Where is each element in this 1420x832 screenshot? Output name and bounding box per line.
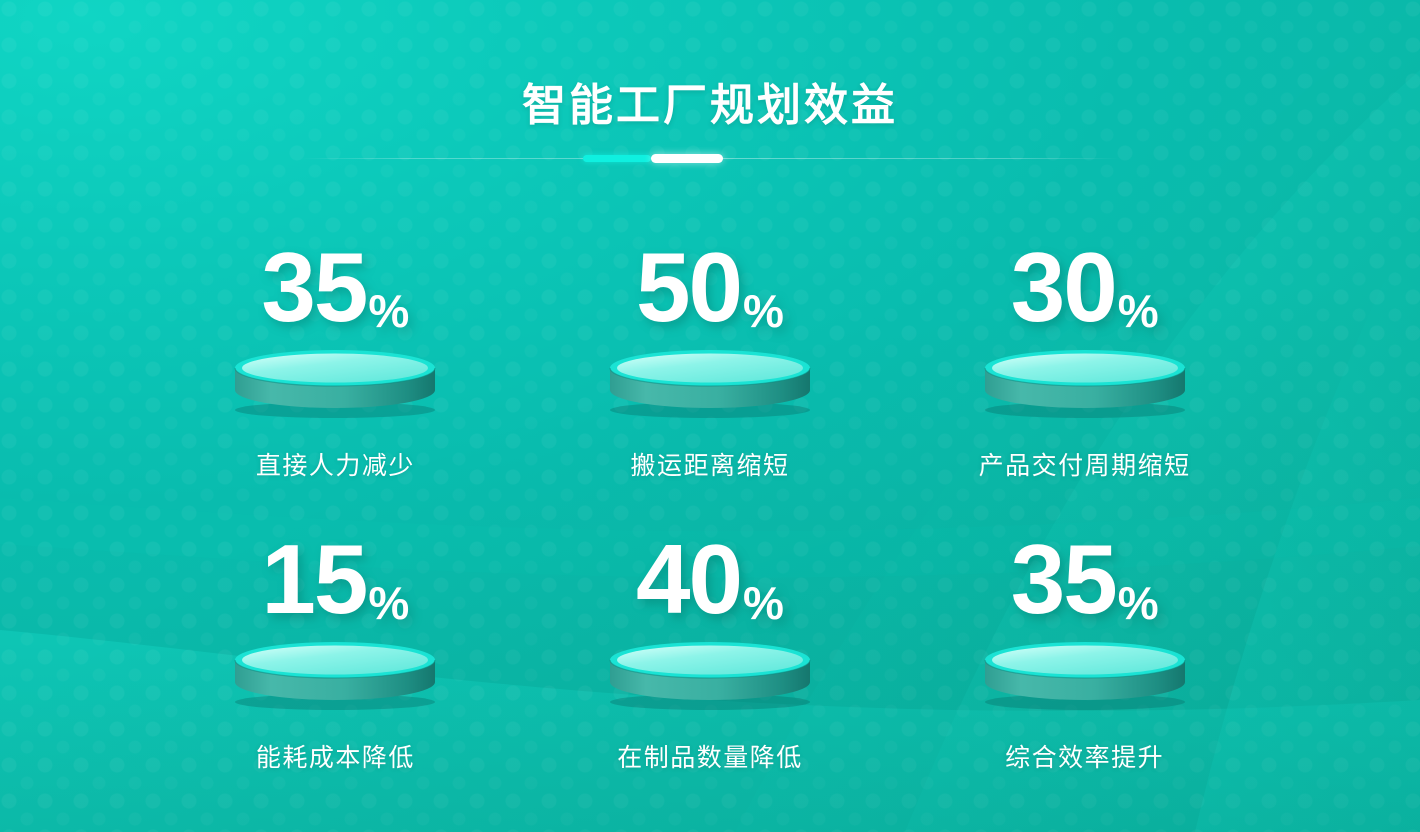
stat-label: 在制品数量降低 <box>617 738 803 774</box>
stat-number: 15 <box>261 530 366 628</box>
stat-label: 综合效率提升 <box>1005 738 1164 774</box>
podium-icon <box>231 638 439 710</box>
stat-value: 50 % <box>636 218 784 336</box>
stat-card: 15 % <box>148 510 523 790</box>
stat-card: 35 % <box>148 218 523 498</box>
stat-card: 50 % <box>523 218 898 498</box>
podium-icon <box>981 638 1189 710</box>
stats-grid: 35 % <box>148 218 1272 790</box>
header: 智能工厂规划效益 <box>0 0 1420 166</box>
stat-value: 35 % <box>261 218 409 336</box>
stat-value: 35 % <box>1011 510 1159 628</box>
stat-number: 40 <box>636 530 741 628</box>
stat-label: 产品交付周期缩短 <box>979 446 1191 482</box>
podium-icon <box>981 346 1189 418</box>
stat-number: 35 <box>261 238 366 336</box>
stat-unit: % <box>368 288 409 334</box>
stat-label: 直接人力减少 <box>256 446 415 482</box>
page-title: 智能工厂规划效益 <box>0 82 1420 130</box>
stat-card: 30 % <box>897 218 1272 498</box>
stat-number: 35 <box>1011 530 1116 628</box>
stat-number: 50 <box>636 238 741 336</box>
stat-card: 40 % <box>523 510 898 790</box>
stat-label: 能耗成本降低 <box>256 738 415 774</box>
title-divider <box>300 152 1120 166</box>
stat-unit: % <box>743 288 784 334</box>
podium-icon <box>606 638 814 710</box>
stat-unit: % <box>368 580 409 626</box>
stat-label: 搬运距离缩短 <box>630 446 789 482</box>
stat-value: 40 % <box>636 510 784 628</box>
infographic-canvas: 智能工厂规划效益 35 % <box>0 0 1420 832</box>
stat-unit: % <box>743 580 784 626</box>
podium-icon <box>606 346 814 418</box>
stat-unit: % <box>1118 580 1159 626</box>
stat-number: 30 <box>1011 238 1116 336</box>
divider-highlight-segment <box>651 154 723 163</box>
divider-accent-segment <box>583 155 651 162</box>
stat-unit: % <box>1118 288 1159 334</box>
stat-card: 35 % <box>897 510 1272 790</box>
stat-value: 30 % <box>1011 218 1159 336</box>
podium-icon <box>231 346 439 418</box>
stat-value: 15 % <box>261 510 409 628</box>
